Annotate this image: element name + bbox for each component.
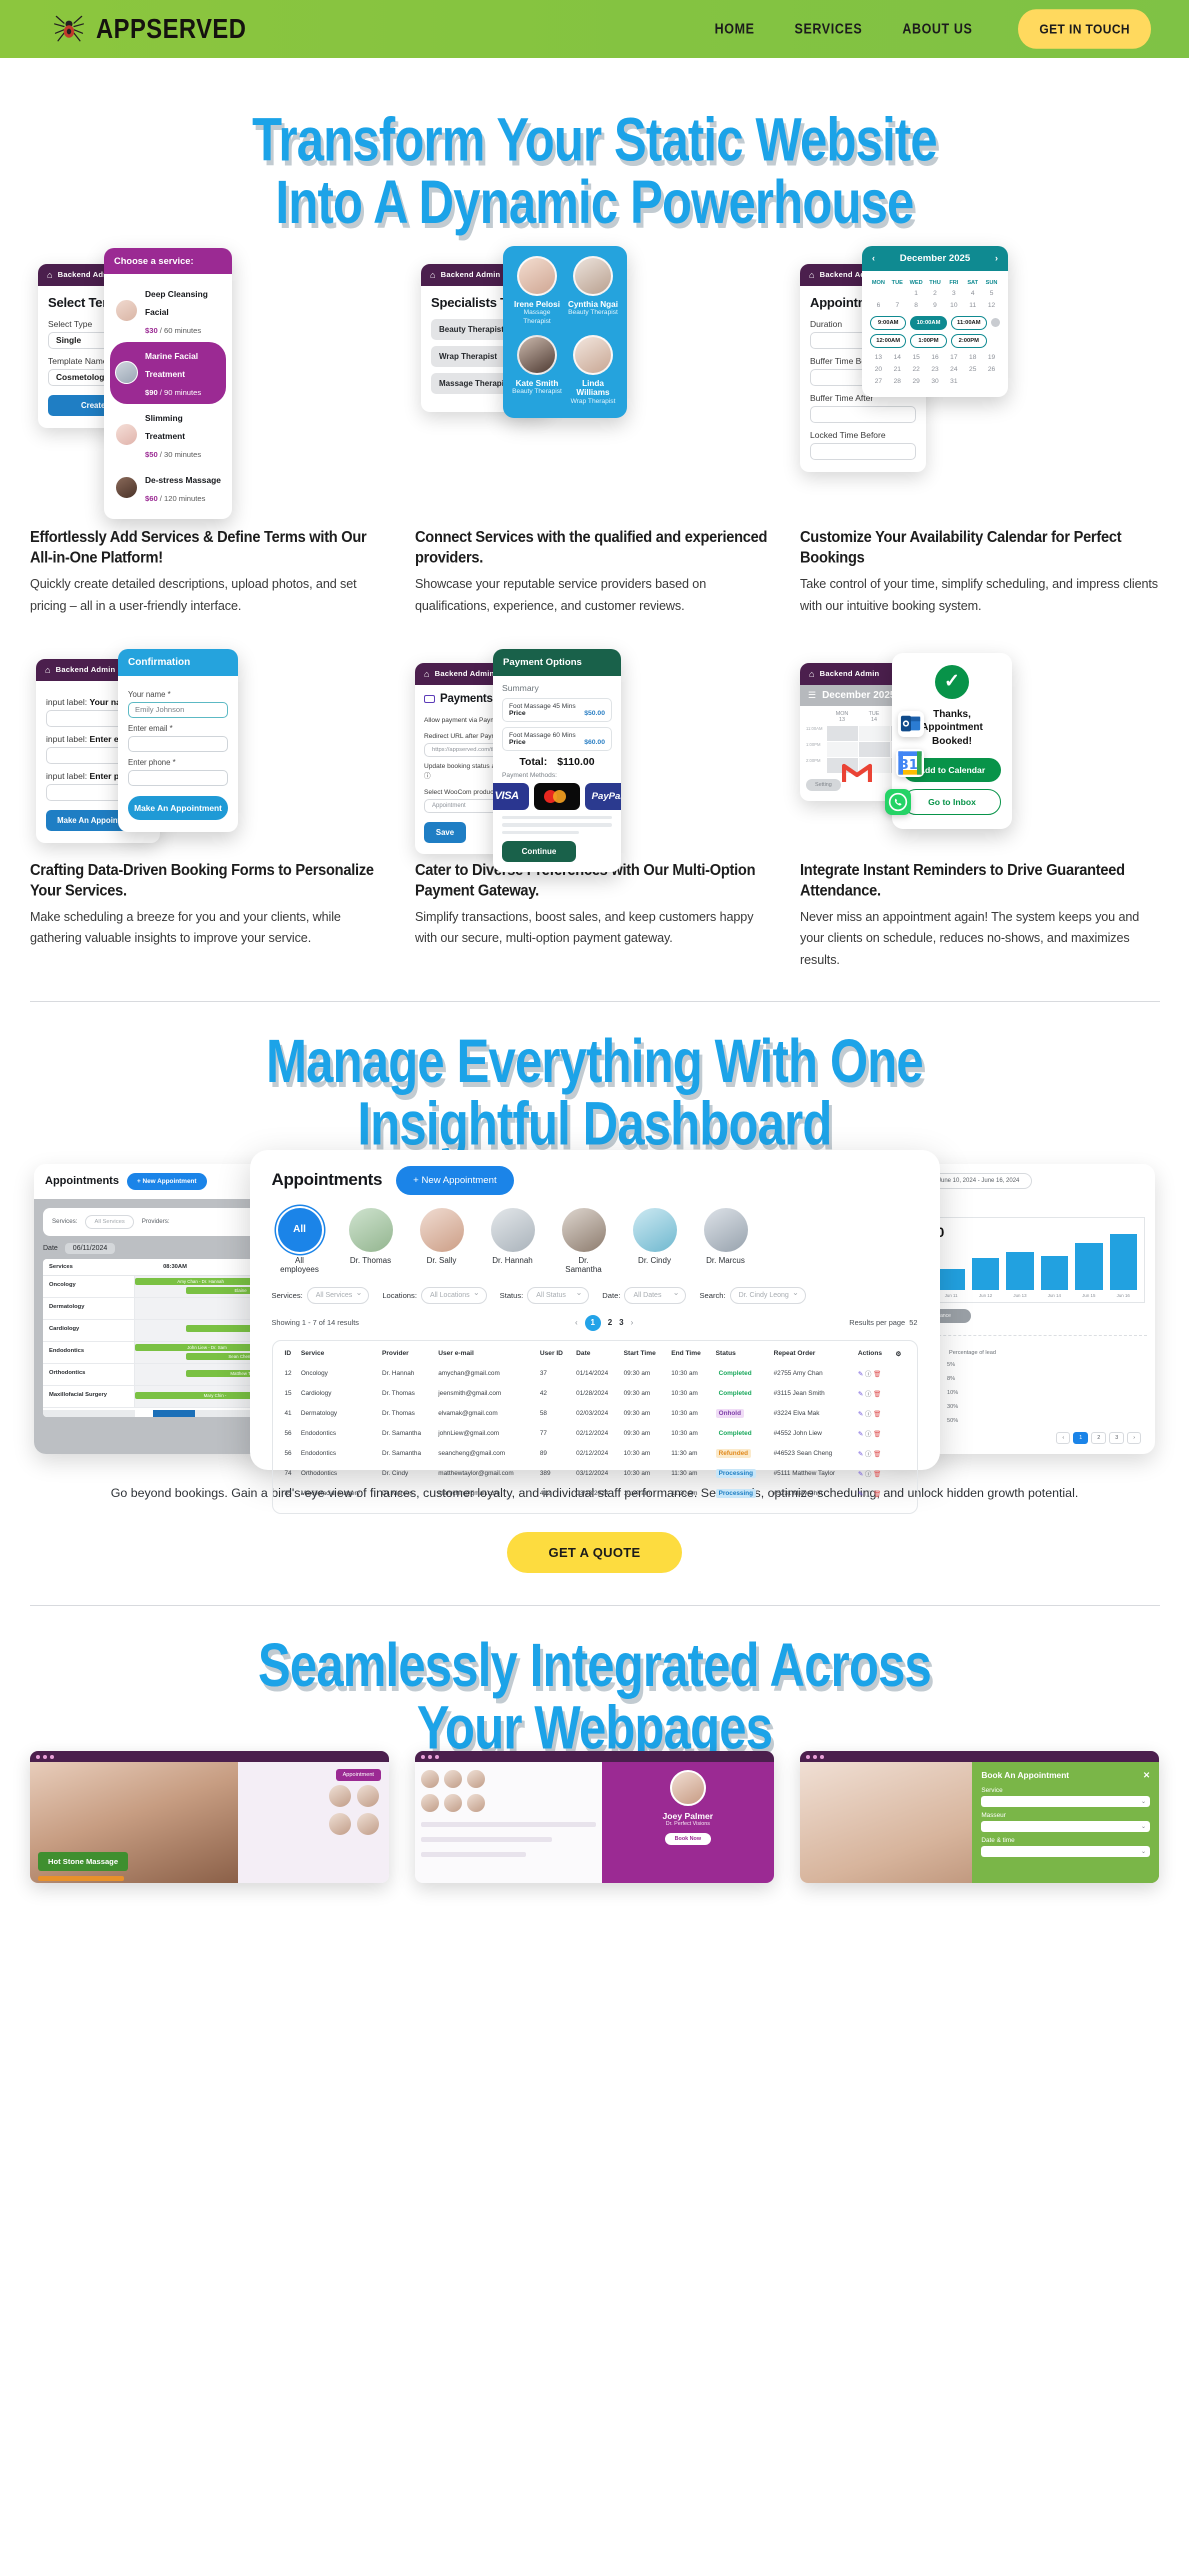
chevron-right-icon[interactable]: › — [995, 253, 998, 263]
row-user-id: 412 — [537, 1484, 573, 1504]
calendar-week-1: 1 2 3 4 5 — [870, 288, 1000, 300]
filter-label-services: Services: — [52, 1218, 77, 1225]
calendar-day[interactable]: 22 — [908, 364, 925, 376]
calendar-day[interactable]: 31 — [945, 376, 962, 388]
window-dot — [43, 1755, 47, 1759]
widget-label-masseur: Masseur — [981, 1812, 1150, 1819]
time-slot-row-2: 12:00AM 1:00PM 2:00PM — [870, 334, 1000, 348]
appointment-tag[interactable]: Appointment — [336, 1769, 381, 1781]
confirm-input-name[interactable]: Emily Johnson — [128, 702, 228, 718]
page-prev[interactable]: ‹ — [575, 1318, 578, 1327]
col-user-id[interactable]: User ID — [537, 1348, 573, 1364]
schedule-service: Cardiology — [43, 1320, 135, 1341]
page-next[interactable]: › — [1127, 1432, 1141, 1444]
avatar — [421, 1794, 439, 1812]
section-divider-2 — [30, 1605, 1160, 1606]
check-circle-icon: ✓ — [935, 665, 969, 699]
table-row[interactable]: 12OncologyDr. Hannahamychan@gmail.com370… — [282, 1364, 908, 1384]
row-email: matthewtaylor@gmail.com — [435, 1464, 537, 1484]
main-nav: HOME SERVICES ABOUT US GET IN TOUCH — [715, 11, 1151, 47]
admin-bar-label: Backend Admin — [56, 665, 116, 674]
chart-bar — [1110, 1234, 1137, 1290]
col-date[interactable]: Date — [573, 1348, 620, 1364]
settings-gear-icon[interactable]: ⚙ — [893, 1348, 908, 1364]
row-actions[interactable]: ✎ ⓘ 🗑 — [855, 1464, 893, 1484]
row-repeat-order[interactable]: #3224 Elva Mak — [771, 1404, 855, 1424]
integration-title: Seamlessly Integrated Across Your Webpag… — [30, 1636, 1159, 1761]
calendar-day[interactable]: 2 — [927, 288, 944, 300]
continue-button[interactable]: Continue — [502, 841, 576, 862]
dow-tue: TUE — [889, 278, 906, 288]
window-dot — [50, 1755, 54, 1759]
row-end: 10:30 am — [668, 1384, 712, 1404]
row-id: 12 — [282, 1364, 298, 1384]
payment-options-card: Payment Options Summary Foot Massage 45 … — [493, 649, 621, 873]
cal-num: 13 — [826, 717, 858, 723]
home-icon: ⌂ — [45, 665, 51, 675]
page-next[interactable]: › — [631, 1318, 634, 1327]
calendar-day[interactable]: 3 — [945, 288, 962, 300]
calendar-day[interactable]: 1 — [908, 288, 925, 300]
table-row[interactable]: 15CardiologyDr. Thomasjeensmith@gmail.co… — [282, 1384, 908, 1404]
feature-card-providers: ⌂ Backend Admin Specialists Team Beauty … — [415, 246, 774, 617]
confirm-make-appointment-button[interactable]: Make An Appointment — [128, 796, 228, 820]
employee-item[interactable]: Dr. Cindy — [631, 1208, 679, 1274]
employee-name: Dr. Hannah — [489, 1256, 537, 1265]
dashboard-mockup: Appointments + New Appointment Services:… — [30, 1150, 1159, 1470]
table-row[interactable]: 85Maxillofacial SurgeryDr. Marcusmarychi… — [282, 1484, 908, 1504]
filter-select-date[interactable]: All Dates — [624, 1287, 686, 1304]
widget-select-service[interactable]: ⌄ — [981, 1796, 1150, 1807]
close-icon[interactable] — [991, 318, 1000, 327]
outlook-icon[interactable] — [898, 711, 924, 737]
field-input-buffer-after[interactable] — [810, 406, 916, 423]
calendar-day[interactable]: 11 — [964, 300, 981, 312]
edit-icon[interactable]: ✎ — [858, 1491, 863, 1498]
team-member-name: Cynthia Ngai — [567, 300, 619, 309]
grid-col-time: 08:30AM — [135, 1259, 215, 1275]
calendar-day[interactable]: 17 — [945, 352, 962, 364]
booked-line2: Appointment Booked! — [921, 722, 983, 747]
row-end: 10:30 am — [668, 1404, 712, 1424]
avatar — [329, 1813, 351, 1835]
profile-role: Dr. Perfect Visions — [602, 1821, 774, 1827]
edit-icon[interactable]: ✎ — [858, 1391, 863, 1398]
new-appointment-button[interactable]: + New Appointment — [127, 1173, 207, 1190]
row-date: 01/14/2024 — [573, 1364, 620, 1384]
confirm-input-phone[interactable] — [128, 770, 228, 786]
payment-line-item: Foot Massage 60 Mins Price$60.00 — [502, 727, 612, 751]
time-slot[interactable]: 2:00PM — [951, 334, 987, 348]
filter-select-services[interactable]: All Services — [307, 1287, 370, 1304]
page-3[interactable]: 3 — [1109, 1432, 1124, 1444]
feature-body: Make scheduling a breeze for you and you… — [30, 907, 389, 949]
book-now-button[interactable]: Book Now — [665, 1833, 711, 1845]
brand[interactable]: APPSERVED — [52, 13, 254, 45]
page-prev[interactable]: ‹ — [1056, 1432, 1070, 1444]
row-repeat-order[interactable]: #2755 Amy Chan — [771, 1364, 855, 1384]
center-panel-title: Appointments — [272, 1170, 383, 1190]
team-member[interactable]: Cynthia Ngai Beauty Therapist — [567, 256, 619, 326]
go-to-inbox-button[interactable]: Go to Inbox — [903, 789, 1001, 815]
page-1[interactable]: 1 — [1073, 1432, 1088, 1444]
choose-service-card: Choose a service: Deep Cleansing Facial … — [104, 248, 232, 519]
widget-title: Book An Appointment — [981, 1770, 1069, 1780]
chart-bar — [1075, 1243, 1102, 1289]
row-actions[interactable]: ✎ ⓘ 🗑 — [855, 1404, 893, 1424]
center-filters: Services: All Services Locations: All Lo… — [272, 1287, 918, 1304]
filter-label: Date: — [602, 1291, 620, 1300]
delete-icon[interactable]: 🗑 — [873, 1411, 881, 1418]
team-member-name: Irene Pelosi — [511, 300, 563, 309]
date-range-filter[interactable]: June 10, 2024 - June 16, 2024 — [925, 1173, 1032, 1189]
calendar-day[interactable]: 5 — [983, 288, 1000, 300]
calendar-day[interactable]: 23 — [927, 364, 944, 376]
calendar-day — [983, 376, 1000, 388]
field-input-locked-before[interactable] — [810, 443, 916, 460]
dashboard-title-line2: Insightful Dashboard — [30, 1094, 1159, 1156]
time-slot[interactable]: 9:00AM — [870, 316, 906, 330]
table-row[interactable]: 74OrthodonticsDr. Cindymatthewtaylor@gma… — [282, 1464, 908, 1484]
edit-icon[interactable]: ✎ — [858, 1451, 863, 1458]
row-spacer — [893, 1444, 908, 1464]
chart-bar — [972, 1258, 999, 1289]
calendar-day[interactable]: 30 — [927, 376, 944, 388]
row-repeat-order[interactable]: #5111 Matthew Taylor — [771, 1464, 855, 1484]
hamburger-icon[interactable]: ☰ — [808, 691, 816, 700]
calendar-day[interactable]: 12 — [983, 300, 1000, 312]
features-row-2: ⌂ Backend Admin input label: Your name *… — [0, 649, 1189, 971]
service-avatar — [115, 299, 138, 322]
mastercard-icon[interactable] — [534, 783, 579, 810]
row-date: 02/12/2024 — [573, 1424, 620, 1444]
row-end: 10:30 am — [668, 1424, 712, 1444]
delete-icon[interactable]: 🗑 — [873, 1491, 881, 1498]
profile-panel: Joey Palmer Dr. Perfect Visions Book Now — [602, 1762, 774, 1883]
delete-icon[interactable]: 🗑 — [873, 1371, 881, 1378]
calendar-day[interactable]: 28 — [889, 376, 906, 388]
calendar-day[interactable]: 19 — [983, 352, 1000, 364]
calendar-week-4: 13 14 15 16 17 18 19 — [870, 352, 1000, 364]
info-icon[interactable]: ⓘ — [865, 1371, 871, 1378]
time-slot[interactable]: 11:00AM — [951, 316, 987, 330]
col-id[interactable]: ID — [282, 1348, 298, 1364]
feature-title: Connect Services with the qualified and … — [415, 528, 774, 570]
widget-select-datetime[interactable]: ⌄ — [981, 1846, 1150, 1857]
feature-body: Simplify transactions, boost sales, and … — [415, 907, 774, 949]
page-title: Transform Your Static Website Into A Dyn… — [30, 58, 1159, 235]
table-row[interactable]: 41DermatologyDr. Thomaselvamak@gmail.com… — [282, 1404, 908, 1424]
payment-options-title: Payment Options — [493, 649, 621, 676]
calendar-day[interactable]: 24 — [945, 364, 962, 376]
avatar — [704, 1208, 748, 1252]
status-badge: Processing — [713, 1484, 771, 1504]
row-id: 74 — [282, 1464, 298, 1484]
row-user-id: 37 — [537, 1364, 573, 1384]
percent-row: 50% — [947, 1418, 1155, 1424]
employee-item[interactable]: Dr. Hannah — [489, 1208, 537, 1274]
edit-icon[interactable]: ✎ — [858, 1411, 863, 1418]
calendar-day[interactable]: 8 — [908, 300, 925, 312]
calendar-day[interactable]: 4 — [964, 288, 981, 300]
percent-row: 5% — [947, 1362, 1155, 1368]
date-value[interactable]: 06/11/2024 — [65, 1243, 116, 1254]
calendar-day[interactable]: 21 — [889, 364, 906, 376]
time-slot[interactable]: 1:00PM — [910, 334, 946, 348]
calendar-day[interactable] — [889, 288, 906, 300]
window-dot — [820, 1755, 824, 1759]
row-start: 10:30 am — [621, 1484, 669, 1504]
row-provider: Dr. Thomas — [379, 1384, 435, 1404]
brand-name: APPSERVED — [96, 13, 246, 45]
mock-calendar: ⌂ Backend Admin Appointment S Duration B… — [800, 246, 1159, 516]
total-value: $110.00 — [557, 756, 594, 768]
confirm-input-email[interactable] — [128, 736, 228, 752]
item-price-value: $50.00 — [584, 710, 605, 717]
row-email: johnLiew@gmail.com — [435, 1424, 537, 1444]
row-repeat-order[interactable]: #5231 Mary Chin — [771, 1484, 855, 1504]
new-appointment-button[interactable]: + New Appointment — [396, 1166, 513, 1195]
nav-item-services[interactable]: SERVICES — [795, 21, 863, 37]
row-provider: Dr. Marcus — [379, 1484, 435, 1504]
window-dot — [428, 1755, 432, 1759]
spider-icon — [52, 13, 86, 45]
calendar-header: ‹ December 2025 › — [862, 246, 1008, 271]
col-start-time[interactable]: Start Time — [621, 1348, 669, 1364]
service-price: $90 — [145, 388, 158, 397]
calendar-day[interactable]: 7 — [889, 300, 906, 312]
delete-icon[interactable]: 🗑 — [873, 1471, 881, 1478]
team-member[interactable]: Linda Williams Wrap Therapist — [567, 335, 619, 406]
calendar-day[interactable]: 10 — [945, 300, 962, 312]
info-icon[interactable]: ⓘ — [865, 1491, 871, 1498]
search-input[interactable]: Dr. Cindy Leong — [730, 1287, 806, 1304]
google-calendar-icon[interactable]: 31 — [896, 749, 924, 777]
service-avatar — [115, 361, 138, 384]
info-icon[interactable]: ⓘ — [865, 1431, 871, 1438]
filter-label-providers: Providers: — [142, 1218, 170, 1225]
whatsapp-icon[interactable] — [885, 789, 911, 815]
avatar — [517, 256, 557, 296]
widget-label-datetime: Date & time — [981, 1837, 1150, 1844]
save-button[interactable]: Save — [424, 822, 466, 843]
calendar-day[interactable]: 13 — [870, 352, 887, 364]
row-actions[interactable]: ✎ ⓘ 🗑 — [855, 1384, 893, 1404]
avatar — [562, 1208, 606, 1252]
service-option[interactable]: Slimming Treatment $50 / 30 minutes — [110, 404, 226, 466]
col-actions: Actions — [855, 1348, 893, 1364]
row-actions[interactable]: ✎ ⓘ 🗑 — [855, 1424, 893, 1444]
calendar-day[interactable]: 27 — [870, 376, 887, 388]
get-a-quote-button[interactable]: GET A QUOTE — [507, 1532, 683, 1573]
time-slot-selected[interactable]: 10:00AM — [910, 316, 946, 330]
filter-select-locations[interactable]: All Locations — [421, 1287, 487, 1304]
delete-icon[interactable]: 🗑 — [873, 1451, 881, 1458]
filter-label: Services: — [272, 1291, 303, 1300]
row-service: Endodontics — [298, 1444, 379, 1464]
gmail-icon[interactable] — [842, 759, 872, 785]
table-row[interactable]: 56EndodonticsDr. SamanthajohnLiew@gmail.… — [282, 1424, 908, 1444]
calendar-day[interactable]: 14 — [889, 352, 906, 364]
info-icon[interactable]: ⓘ — [865, 1471, 871, 1478]
row-actions[interactable]: ✎ ⓘ 🗑 — [855, 1484, 893, 1504]
cal-time: 2:00PM — [806, 758, 826, 773]
col-end-time[interactable]: End Time — [668, 1348, 712, 1364]
chevron-left-icon[interactable]: ‹ — [872, 253, 875, 263]
calendar-month: December 2025 — [900, 253, 970, 264]
calendar-day[interactable]: 15 — [908, 352, 925, 364]
calendar-day[interactable]: 29 — [908, 376, 925, 388]
window-dot — [435, 1755, 439, 1759]
filter-search: Search: Dr. Cindy Leong — [699, 1287, 805, 1304]
employee-all[interactable]: All All employees — [276, 1208, 324, 1274]
dow-sat: SAT — [964, 278, 981, 288]
row-service: Cardiology — [298, 1384, 379, 1404]
info-icon[interactable]: ⓘ — [865, 1451, 871, 1458]
integration-mockups: Appointment Hot Stone Massage — [30, 1751, 1159, 1883]
dow-mon: MON — [870, 278, 887, 288]
table-row[interactable]: 56EndodonticsDr. Samanthaseancheng@gmail… — [282, 1444, 908, 1464]
page-1[interactable]: 1 — [585, 1315, 601, 1331]
calendar-day[interactable]: 18 — [964, 352, 981, 364]
avatar — [329, 1785, 351, 1807]
calendar-day[interactable] — [870, 288, 887, 300]
features-row-1: ⌂ Backend Admin Select Template Select T… — [0, 246, 1189, 617]
admin-bar-label: Backend Admin — [441, 270, 501, 279]
page-3[interactable]: 3 — [619, 1318, 623, 1327]
webpage-mock-spa: Appointment Hot Stone Massage — [30, 1751, 389, 1883]
credit-card-icon — [424, 695, 435, 703]
nav-item-about-us[interactable]: ABOUT US — [902, 21, 972, 37]
edit-icon[interactable]: ✎ — [858, 1371, 863, 1378]
employee-item[interactable]: Dr. Sally — [418, 1208, 466, 1274]
employee-item[interactable]: Dr. Thomas — [347, 1208, 395, 1274]
row-email: amychan@gmail.com — [435, 1364, 537, 1384]
row-id: 56 — [282, 1424, 298, 1444]
edit-icon[interactable]: ✎ — [858, 1431, 863, 1438]
info-icon[interactable]: ⓘ — [865, 1411, 871, 1418]
employee-item[interactable]: Dr. Marcus — [702, 1208, 750, 1274]
site-header: APPSERVED HOME SERVICES ABOUT US GET IN … — [0, 0, 1189, 58]
avatar — [420, 1208, 464, 1252]
col-provider[interactable]: Provider — [379, 1348, 435, 1364]
service-name: Deep Cleansing Facial — [145, 289, 208, 317]
row-date: 02/12/2024 — [573, 1444, 620, 1464]
home-icon: ⌂ — [809, 270, 815, 280]
time-slot[interactable]: 12:00AM — [870, 334, 906, 348]
item-price-value: $60.00 — [584, 739, 605, 746]
page-2[interactable]: 2 — [608, 1318, 612, 1327]
row-email: marychin@gmail.com — [435, 1484, 537, 1504]
avatar — [467, 1770, 485, 1788]
feature-card-forms: ⌂ Backend Admin input label: Your name *… — [30, 649, 389, 971]
payment-methods-label: Payment Methods: — [502, 772, 612, 779]
grid-col-services: Services — [43, 1259, 135, 1275]
service-option-selected[interactable]: Marine Facial Treatment $90 / 90 minutes — [110, 342, 226, 404]
results-info-row: Showing 1 - 7 of 14 results ‹ 1 2 3 › Re… — [272, 1315, 918, 1331]
calendar-day[interactable]: 6 — [870, 300, 887, 312]
team-member-name: Linda Williams — [567, 379, 619, 398]
service-option[interactable]: Deep Cleansing Facial $30 / 60 minutes — [110, 280, 226, 342]
calendar-day[interactable]: 20 — [870, 364, 887, 376]
row-provider: Dr. Samantha — [379, 1424, 435, 1444]
employee-item[interactable]: Dr. Samantha — [560, 1208, 608, 1274]
col-service[interactable]: Service — [298, 1348, 379, 1364]
col-repeat-order[interactable]: Repeat Order — [771, 1348, 855, 1364]
service-name: Slimming Treatment — [145, 413, 185, 441]
calendar-day[interactable]: 25 — [964, 364, 981, 376]
row-email: elvamak@gmail.com — [435, 1404, 537, 1424]
feature-card-calendar: ⌂ Backend Admin Appointment S Duration B… — [800, 246, 1159, 617]
service-price: $50 — [145, 450, 158, 459]
webpage-mock-profile: Joey Palmer Dr. Perfect Visions Book Now — [415, 1751, 774, 1883]
service-option[interactable]: De-stress Massage $60 / 120 minutes — [110, 466, 226, 510]
close-icon[interactable]: ✕ — [1143, 1770, 1150, 1780]
dow-wed: WED — [908, 278, 925, 288]
x-tick: Jun 16 — [1110, 1293, 1137, 1298]
row-end: 10:30 am — [668, 1364, 712, 1384]
row-repeat-order[interactable]: #4552 John Liew — [771, 1424, 855, 1444]
row-repeat-order[interactable]: #46523 Sean Cheng — [771, 1444, 855, 1464]
row-service: Oncology — [298, 1364, 379, 1384]
nav-item-home[interactable]: HOME — [715, 21, 755, 37]
row-actions[interactable]: ✎ ⓘ 🗑 — [855, 1444, 893, 1464]
service-duration: / 60 minutes — [160, 326, 201, 335]
availability-calendar-card: ‹ December 2025 › MON TUE WED THU FRI SA… — [862, 246, 1008, 397]
filter-select-status[interactable]: All Status — [527, 1287, 589, 1304]
dow-fri: FRI — [945, 278, 962, 288]
row-repeat-order[interactable]: #3115 Jean Smith — [771, 1384, 855, 1404]
setting-chip[interactable]: Setting — [806, 779, 841, 791]
row-start: 10:30 am — [621, 1464, 669, 1484]
integration-title-line1: Seamlessly Integrated Across — [258, 1632, 931, 1700]
service-avatar — [115, 423, 138, 446]
avatar — [670, 1770, 706, 1806]
employee-name: Dr. Samantha — [560, 1256, 608, 1274]
page-2[interactable]: 2 — [1091, 1432, 1106, 1444]
feature-title: Effortlessly Add Services & Define Terms… — [30, 528, 389, 570]
visa-icon[interactable]: VISA — [493, 783, 529, 810]
col-status[interactable]: Status — [713, 1348, 771, 1364]
widget-select-masseur[interactable]: ⌄ — [981, 1821, 1150, 1832]
team-member[interactable]: Irene Pelosi Massage Therapist — [511, 256, 563, 326]
service-price: $60 — [145, 494, 158, 503]
admin-bar-label: Backend Admin — [435, 669, 495, 678]
paypal-icon[interactable]: PayPal — [585, 783, 621, 810]
calendar-day[interactable]: 16 — [927, 352, 944, 364]
delete-icon[interactable]: 🗑 — [873, 1431, 881, 1438]
row-user-id: 77 — [537, 1424, 573, 1444]
edit-icon[interactable]: ✎ — [858, 1471, 863, 1478]
info-icon[interactable]: ⓘ — [865, 1391, 871, 1398]
mock-forms: ⌂ Backend Admin input label: Your name *… — [30, 649, 389, 849]
col-user-email[interactable]: User e-mail — [435, 1348, 537, 1364]
results-per-page[interactable]: Results per page 52 — [849, 1318, 917, 1327]
employee-name: All employees — [276, 1256, 324, 1274]
dow-sun: SUN — [983, 278, 1000, 288]
calendar-day[interactable]: 9 — [927, 300, 944, 312]
delete-icon[interactable]: 🗑 — [873, 1391, 881, 1398]
team-member[interactable]: Kate Smith Beauty Therapist — [511, 335, 563, 406]
service-name-chip: Hot Stone Massage — [38, 1852, 128, 1871]
filter-select-services[interactable]: All Services — [85, 1215, 133, 1229]
row-service: Endodontics — [298, 1424, 379, 1444]
get-in-touch-button[interactable]: GET IN TOUCH — [1018, 9, 1151, 49]
browser-bar — [800, 1751, 1159, 1762]
schedule-service: Endodontics — [43, 1342, 135, 1363]
calendar-day[interactable]: 26 — [983, 364, 1000, 376]
row-actions[interactable]: ✎ ⓘ 🗑 — [855, 1364, 893, 1384]
